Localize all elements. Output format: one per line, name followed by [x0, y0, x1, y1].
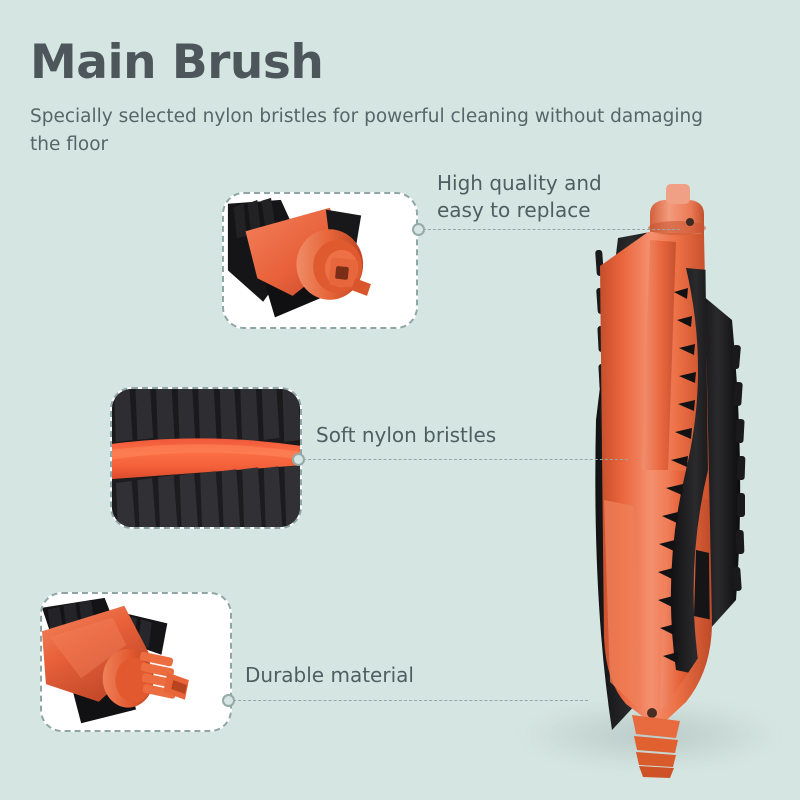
main-brush-image	[500, 170, 800, 780]
page-title: Main Brush	[30, 35, 323, 90]
connector-dot-soft-nylon	[292, 453, 305, 466]
connector-dot-durable	[222, 694, 235, 707]
inset-panel-bristles	[110, 387, 302, 529]
callout-label-soft-nylon: Soft nylon bristles	[316, 422, 496, 449]
brush-top-cap	[648, 184, 706, 235]
connector-line-soft-nylon	[298, 459, 628, 460]
callout-label-durable: Durable material	[245, 662, 414, 689]
callout-label-high-quality: High quality and easy to replace	[437, 170, 602, 224]
inset-art-end-cap	[224, 194, 416, 328]
connector-line-high-quality	[418, 229, 680, 230]
connector-dot-high-quality	[412, 223, 425, 236]
connector-line-durable	[228, 700, 588, 701]
inset-art-bristles	[112, 389, 300, 528]
page-subtitle: Specially selected nylon bristles for po…	[30, 103, 710, 159]
inset-panel-coupling	[40, 592, 232, 732]
inset-art-coupling	[42, 594, 230, 731]
inset-panel-end-cap	[222, 192, 418, 329]
brush-drive-coupling	[632, 708, 680, 778]
